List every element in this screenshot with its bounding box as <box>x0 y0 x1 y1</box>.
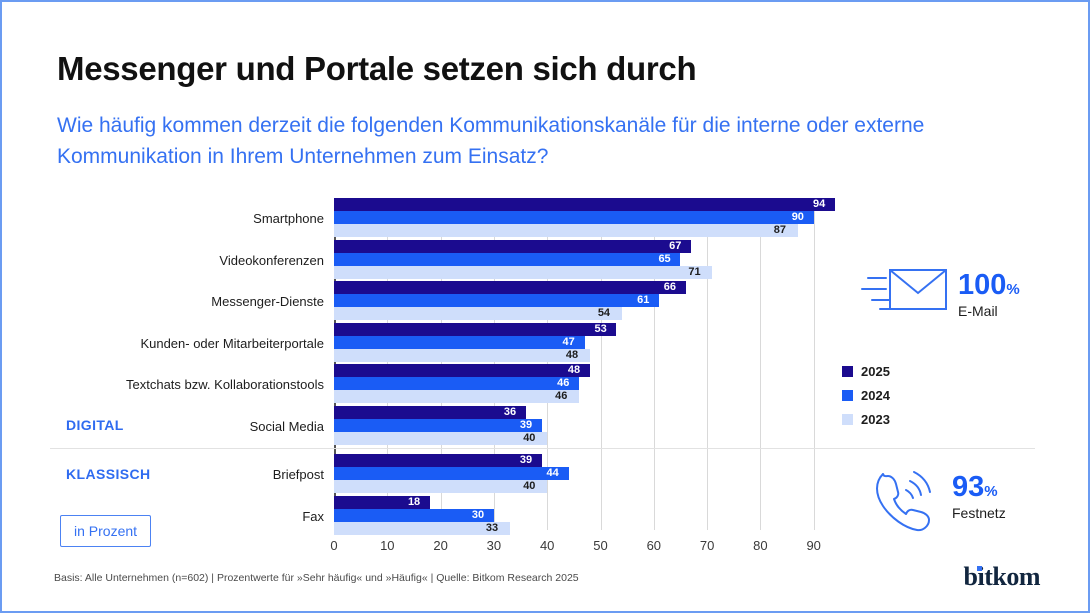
legend-swatch <box>842 366 853 377</box>
bar-value-label: 40 <box>523 432 535 445</box>
bar-2024 <box>334 377 579 390</box>
bar-value-label: 61 <box>637 294 649 307</box>
bar-2024 <box>334 336 585 349</box>
category-label: Textchats bzw. Kollaborationstools <box>24 377 324 392</box>
bar-value-label: 66 <box>664 281 676 294</box>
callout-email-percent: % <box>1006 281 1019 298</box>
bar-2024 <box>334 294 659 307</box>
category-label: Fax <box>24 509 324 524</box>
bar-value-label: 44 <box>547 467 559 480</box>
bar-2023 <box>334 349 590 362</box>
bar-group: 676571 <box>334 240 834 281</box>
bar-group: 183033 <box>334 496 834 537</box>
bar-group: 394440 <box>334 454 834 495</box>
category-label: Briefpost <box>24 467 324 482</box>
legend-label: 2024 <box>861 388 890 403</box>
bar-2023 <box>334 432 547 445</box>
bar-value-label: 39 <box>520 454 532 467</box>
bar-value-label: 54 <box>598 307 610 320</box>
bar-2023 <box>334 390 579 403</box>
bar-2025 <box>334 281 686 294</box>
bar-2023 <box>334 480 547 493</box>
x-tick-label: 90 <box>806 538 820 553</box>
bar-value-label: 33 <box>486 522 498 535</box>
bar-value-label: 36 <box>504 406 516 419</box>
bar-value-label: 30 <box>472 509 484 522</box>
category-label: Kunden- oder Mitarbeiterportale <box>24 336 324 351</box>
legend-item: 2025 <box>842 364 890 379</box>
bar-value-label: 94 <box>813 198 825 211</box>
bar-group: 484646 <box>334 364 834 405</box>
callout-email-label: E-Mail <box>958 303 1020 319</box>
bar-value-label: 48 <box>568 364 580 377</box>
x-tick-label: 40 <box>540 538 554 553</box>
legend-swatch <box>842 414 853 425</box>
category-label: Videokonferenzen <box>24 253 324 268</box>
bar-2023 <box>334 307 622 320</box>
legend-item: 2024 <box>842 388 890 403</box>
bar-2023 <box>334 266 712 279</box>
bar-2024 <box>334 253 680 266</box>
legend-item: 2023 <box>842 412 890 427</box>
bar-2024 <box>334 467 569 480</box>
x-tick-label: 50 <box>593 538 607 553</box>
bar-chart-plot: 9490876765716661545347484846463639403944… <box>334 198 834 530</box>
legend-label: 2023 <box>861 412 890 427</box>
callout-phone-percent: % <box>984 483 997 500</box>
bar-value-label: 40 <box>523 480 535 493</box>
legend-label: 2025 <box>861 364 890 379</box>
infographic-frame: Messenger und Portale setzen sich durch … <box>0 0 1090 613</box>
callout-phone-value: 93 <box>952 471 984 503</box>
x-tick-label: 60 <box>647 538 661 553</box>
x-tick-label: 20 <box>433 538 447 553</box>
x-tick-label: 30 <box>487 538 501 553</box>
footer-source: Basis: Alle Unternehmen (n=602) | Prozen… <box>54 572 579 584</box>
envelope-icon <box>860 264 952 321</box>
bar-2025 <box>334 323 616 336</box>
section-divider <box>50 448 1035 449</box>
bar-2025 <box>334 454 542 467</box>
bar-value-label: 47 <box>563 336 575 349</box>
bar-2023 <box>334 522 510 535</box>
logo-dot <box>977 566 982 571</box>
bar-group: 534748 <box>334 323 834 364</box>
category-label: Social Media <box>24 419 324 434</box>
page-subtitle: Wie häufig kommen derzeit die folgenden … <box>57 110 1017 172</box>
phone-icon <box>867 464 945 545</box>
x-tick-label: 70 <box>700 538 714 553</box>
bar-2024 <box>334 509 494 522</box>
bar-value-label: 39 <box>520 419 532 432</box>
bar-value-label: 65 <box>658 253 670 266</box>
bar-2025 <box>334 240 691 253</box>
bar-value-label: 46 <box>555 390 567 403</box>
bar-group: 949087 <box>334 198 834 239</box>
legend-swatch <box>842 390 853 401</box>
bitkom-logo: bitkom <box>964 562 1040 592</box>
callout-phone-label: Festnetz <box>952 505 1006 521</box>
bar-value-label: 53 <box>594 323 606 336</box>
bar-group: 666154 <box>334 281 834 322</box>
bar-value-label: 87 <box>774 224 786 237</box>
bar-value-label: 18 <box>408 496 420 509</box>
chart-legend: 202520242023 <box>842 364 890 436</box>
bar-group: 363940 <box>334 406 834 447</box>
bar-2024 <box>334 419 542 432</box>
bar-value-label: 71 <box>688 266 700 279</box>
x-tick-label: 80 <box>753 538 767 553</box>
category-label: Smartphone <box>24 211 324 226</box>
bar-value-label: 46 <box>557 377 569 390</box>
bar-value-label: 67 <box>669 240 681 253</box>
category-label: Messenger-Dienste <box>24 294 324 309</box>
logo-text: bitkom <box>964 562 1040 591</box>
x-tick-label: 0 <box>330 538 337 553</box>
callout-email-value: 100 <box>958 269 1006 301</box>
bar-2025 <box>334 198 835 211</box>
bar-2023 <box>334 224 798 237</box>
bar-value-label: 48 <box>566 349 578 362</box>
x-tick-label: 10 <box>380 538 394 553</box>
bar-2025 <box>334 406 526 419</box>
bar-2025 <box>334 364 590 377</box>
bar-2024 <box>334 211 814 224</box>
page-title: Messenger und Portale setzen sich durch <box>57 50 696 88</box>
bar-value-label: 90 <box>792 211 804 224</box>
